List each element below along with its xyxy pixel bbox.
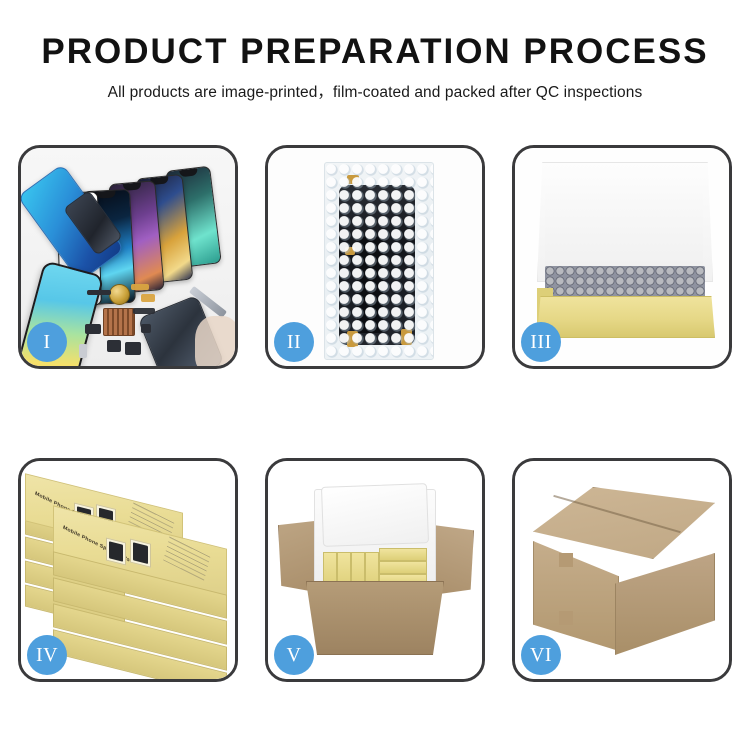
speaker-coil-part	[109, 284, 130, 305]
process-panel-1[interactable]: I	[18, 145, 238, 369]
technician-hand	[195, 316, 235, 366]
copper-shield-part	[103, 308, 135, 336]
header: PRODUCT PREPARATION PROCESS All products…	[0, 0, 750, 102]
carton-body	[306, 581, 444, 655]
page-subtitle: All products are image-printed，film-coat…	[0, 80, 750, 102]
process-panel-2[interactable]: II	[265, 145, 485, 369]
process-panel-5[interactable]: V	[265, 458, 485, 682]
small-part-f	[79, 344, 87, 358]
flex-cable-c	[133, 308, 155, 314]
small-part-d	[125, 342, 141, 355]
box-window-2b	[130, 539, 151, 568]
packed-box-5	[379, 548, 427, 561]
panel-badge-4: IV	[27, 635, 67, 675]
carton-tape-lower	[559, 611, 573, 625]
packed-box-6	[379, 561, 427, 574]
carton-tape-upper	[559, 553, 573, 567]
page-title: PRODUCT PREPARATION PROCESS	[0, 34, 750, 71]
flex-cable-a	[131, 284, 149, 290]
process-panel-4[interactable]: Mobile Phone Spare Parts Mobile Phone Sp…	[18, 458, 238, 682]
panel-badge-6: VI	[521, 635, 561, 675]
panel-badge-1: I	[27, 322, 67, 362]
panel-badge-2: II	[274, 322, 314, 362]
small-part-c	[107, 340, 121, 352]
box-front-panel	[537, 296, 715, 338]
bubble-texture	[325, 163, 433, 359]
foam-lid	[321, 483, 429, 547]
infographic-page: PRODUCT PREPARATION PROCESS All products…	[0, 0, 750, 750]
process-panel-grid: I II	[18, 145, 732, 690]
process-panel-6[interactable]: VI	[512, 458, 732, 682]
panel-badge-3: III	[521, 322, 561, 362]
panel-badge-5: V	[274, 635, 314, 675]
small-part-b	[85, 324, 101, 334]
box-window-2a	[106, 538, 126, 566]
flex-cable-b	[141, 294, 155, 302]
box-bubble-padding	[545, 266, 705, 298]
carton-left-face	[533, 541, 619, 651]
small-part-e	[141, 324, 151, 333]
process-panel-3[interactable]: III	[512, 145, 732, 369]
carton-right-face	[615, 553, 715, 655]
box-spec-lines-2	[163, 535, 211, 581]
bubble-wrap-bag	[324, 162, 434, 360]
small-part-a	[87, 290, 111, 295]
